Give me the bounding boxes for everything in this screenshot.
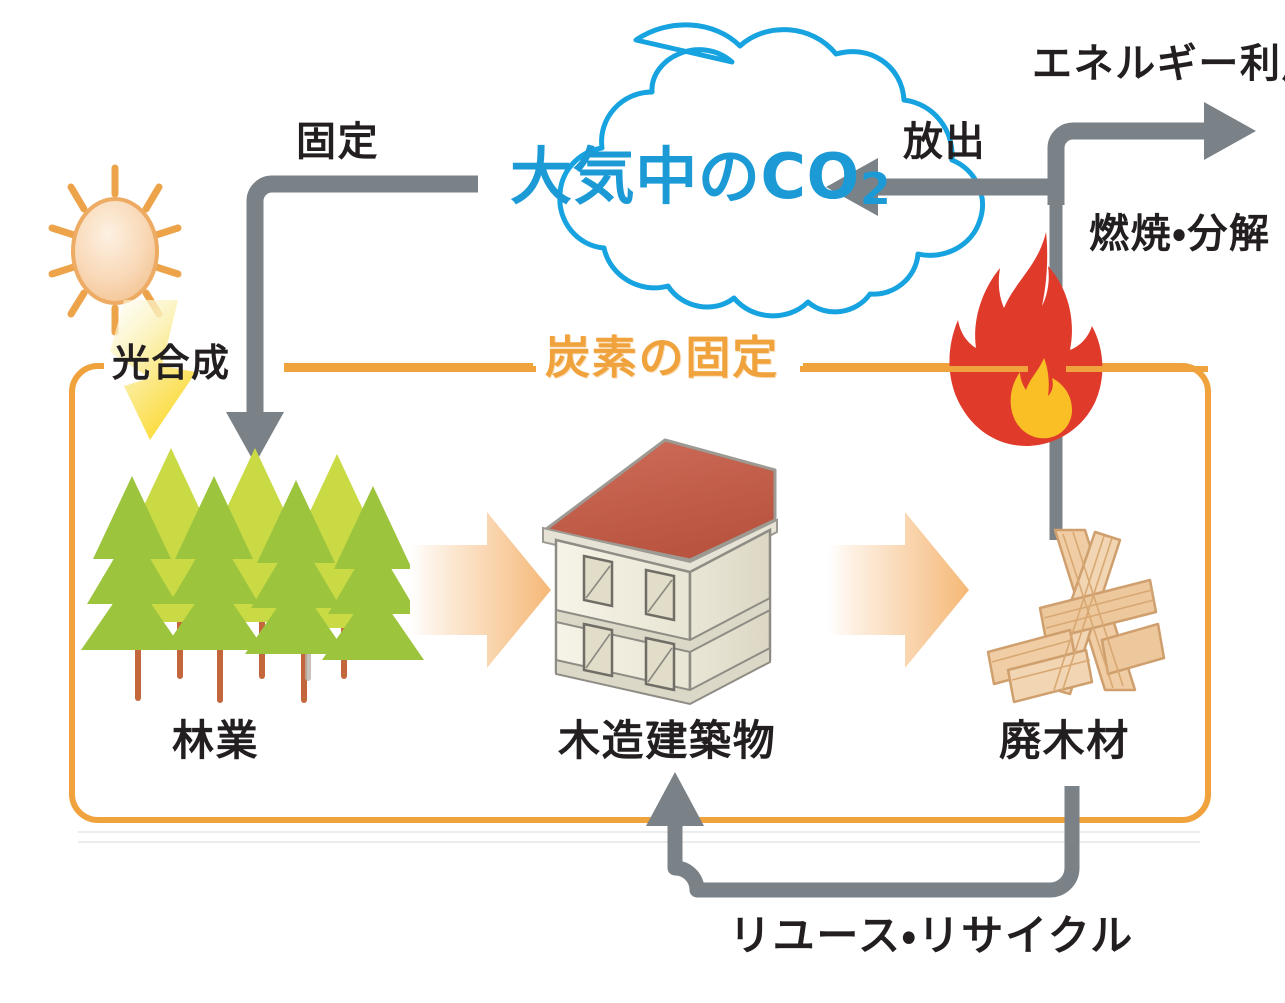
orange-arrow-icon [410,512,551,668]
co2-label-subscript: 2 [860,164,891,215]
label-stage-wooden-building: 木造建築物 [558,720,776,762]
fixation-arrow [226,184,478,464]
label-carbon-fixation: 炭素の固定 [545,335,779,380]
house-icon [543,440,777,704]
timber-planks-icon [988,530,1164,702]
orange-arrow-icon [828,512,969,668]
label-photosynthesis: 光合成 [112,344,231,382]
co2-label-main: 大気中のCO [510,140,860,213]
label-combustion-decomposition: 燃焼・分解 [1089,214,1271,254]
diagram-canvas: 固定 放出 エネルギー利用 燃焼・分解 光合成 炭素の固定 大気中のCO2 林業… [0,0,1285,1003]
label-fixation: 固定 [296,122,379,162]
forest-trees-icon [81,448,424,700]
label-atmospheric-co2: 大気中のCO2 [510,146,891,208]
label-stage-waste-wood: 廃木材 [999,720,1130,762]
reuse-recycle-arrow [646,772,1072,890]
label-energy-use: エネルギー利用 [1032,44,1285,84]
energy-use-arrow [1056,102,1256,205]
label-reuse-recycle: リユース・リサイクル [729,915,1134,957]
label-release: 放出 [903,122,986,162]
flame-icon [949,232,1102,446]
label-stage-forestry: 林業 [172,720,259,762]
